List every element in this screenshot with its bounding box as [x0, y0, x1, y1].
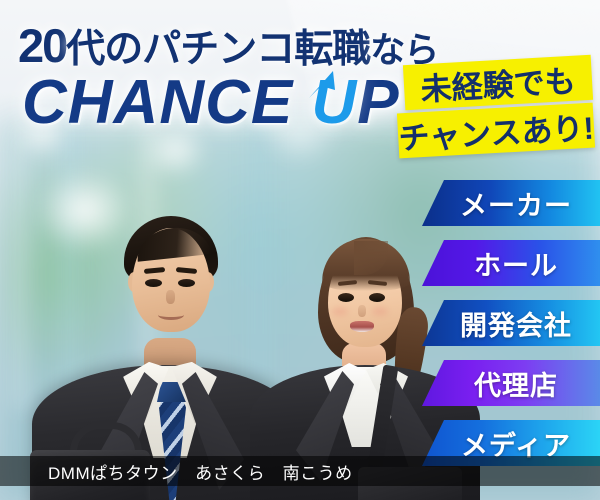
menu-button-agency[interactable]: 代理店 [422, 360, 600, 406]
menu-button-development-company[interactable]: 開発会社 [422, 300, 600, 346]
caption-text: DMMぱちタウン あさくら 南こうめ [0, 459, 353, 484]
menu-button-hall[interactable]: ホール [422, 240, 600, 286]
caption-bar: DMMぱちタウン あさくら 南こうめ [0, 456, 600, 486]
category-menu: メーカー ホール 開発会社 代理店 メディア [0, 0, 600, 500]
menu-button-maker[interactable]: メーカー [422, 180, 600, 226]
promo-banner: 20代のパチンコ転職なら CHANCE UP 未経験でも チャンスあり! メーカ… [0, 0, 600, 500]
menu-button-label: ホール [422, 244, 600, 283]
menu-button-label: 代理店 [422, 364, 600, 403]
menu-button-label: メーカー [422, 184, 600, 223]
menu-button-label: 開発会社 [422, 304, 600, 343]
